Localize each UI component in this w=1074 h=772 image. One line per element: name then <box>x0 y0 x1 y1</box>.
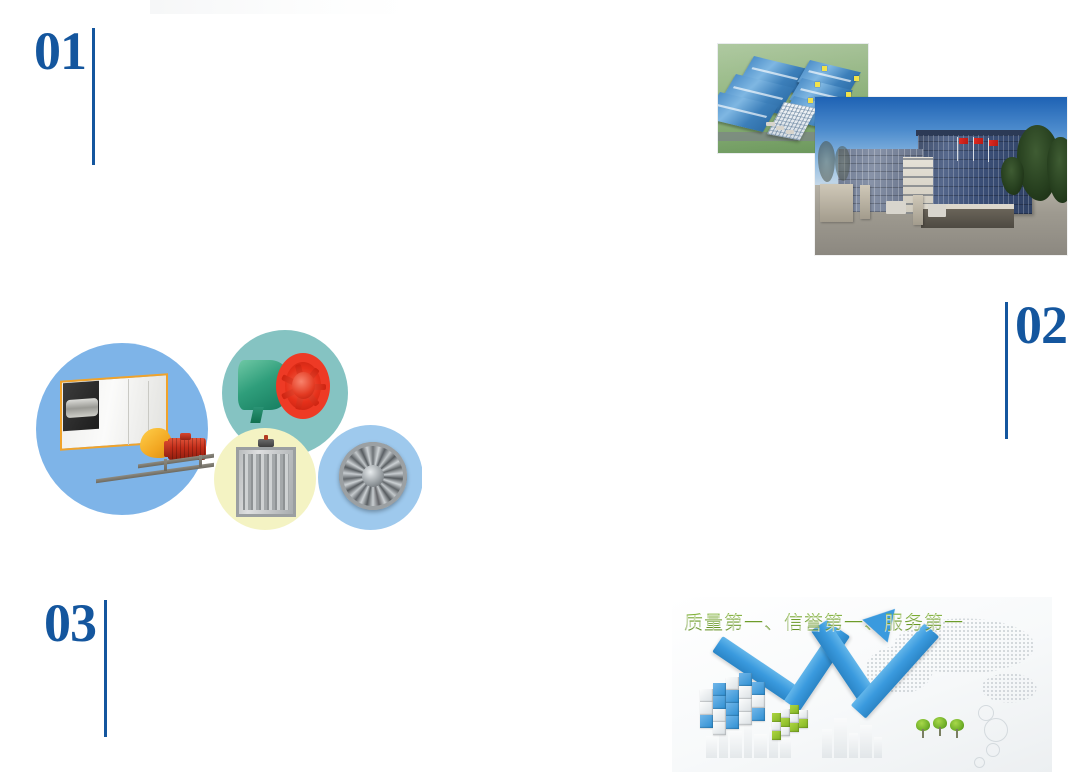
gate-house <box>820 184 853 222</box>
section-divider-rule <box>92 28 95 165</box>
gate-pillar <box>913 195 923 225</box>
site-marker-tag <box>808 98 813 103</box>
growth-slogan-banner-image: 质量第一、信誉第一、服务第一 <box>672 597 1052 772</box>
parked-vehicle <box>928 204 946 217</box>
red-flag <box>974 138 983 144</box>
section-number-label: 03 <box>44 598 96 648</box>
decorative-circle <box>974 757 985 768</box>
top-edge-watermark <box>150 0 410 14</box>
evergreen-tree <box>1001 157 1024 195</box>
yard-vehicle <box>766 122 775 126</box>
section-marker-02: 02 <box>1005 300 1067 439</box>
metal-fan-hub <box>362 465 384 487</box>
damper-louver-blades <box>243 454 289 510</box>
base-frame-leg <box>199 455 202 467</box>
slogan-text: 质量第一、信誉第一、服务第一 <box>684 608 964 635</box>
cabinet-panel-seam <box>128 379 129 445</box>
axial-fan-hub <box>292 372 315 399</box>
red-flag <box>959 138 968 144</box>
yard-vehicle <box>786 130 794 134</box>
site-marker-tag <box>815 82 820 87</box>
fire-damper-frame <box>236 447 296 517</box>
decorative-circle <box>986 743 1000 757</box>
section-number-label: 02 <box>1015 300 1067 350</box>
section-divider-rule <box>104 600 107 737</box>
green-cube-cluster <box>772 703 812 739</box>
product-collage-image <box>36 325 422 547</box>
centrifugal-impeller <box>66 398 98 418</box>
decorative-circle <box>984 718 1008 742</box>
office-exterior-image <box>815 97 1067 255</box>
motor-terminal-box <box>180 433 191 440</box>
blue-cube-cluster <box>700 673 778 739</box>
section-marker-03: 03 <box>44 598 107 737</box>
section-number-label: 01 <box>34 26 86 76</box>
red-flag <box>989 140 998 146</box>
motor-end-cap <box>164 441 170 457</box>
yard-vehicle <box>776 126 784 130</box>
section-marker-01: 01 <box>34 26 95 165</box>
base-frame-leg <box>164 459 167 471</box>
site-marker-tag <box>854 76 859 81</box>
damper-actuator <box>258 439 274 447</box>
parked-vehicle <box>886 201 906 214</box>
site-marker-tag <box>822 66 827 71</box>
gate-pillar <box>860 185 870 218</box>
section-divider-rule <box>1005 302 1008 439</box>
